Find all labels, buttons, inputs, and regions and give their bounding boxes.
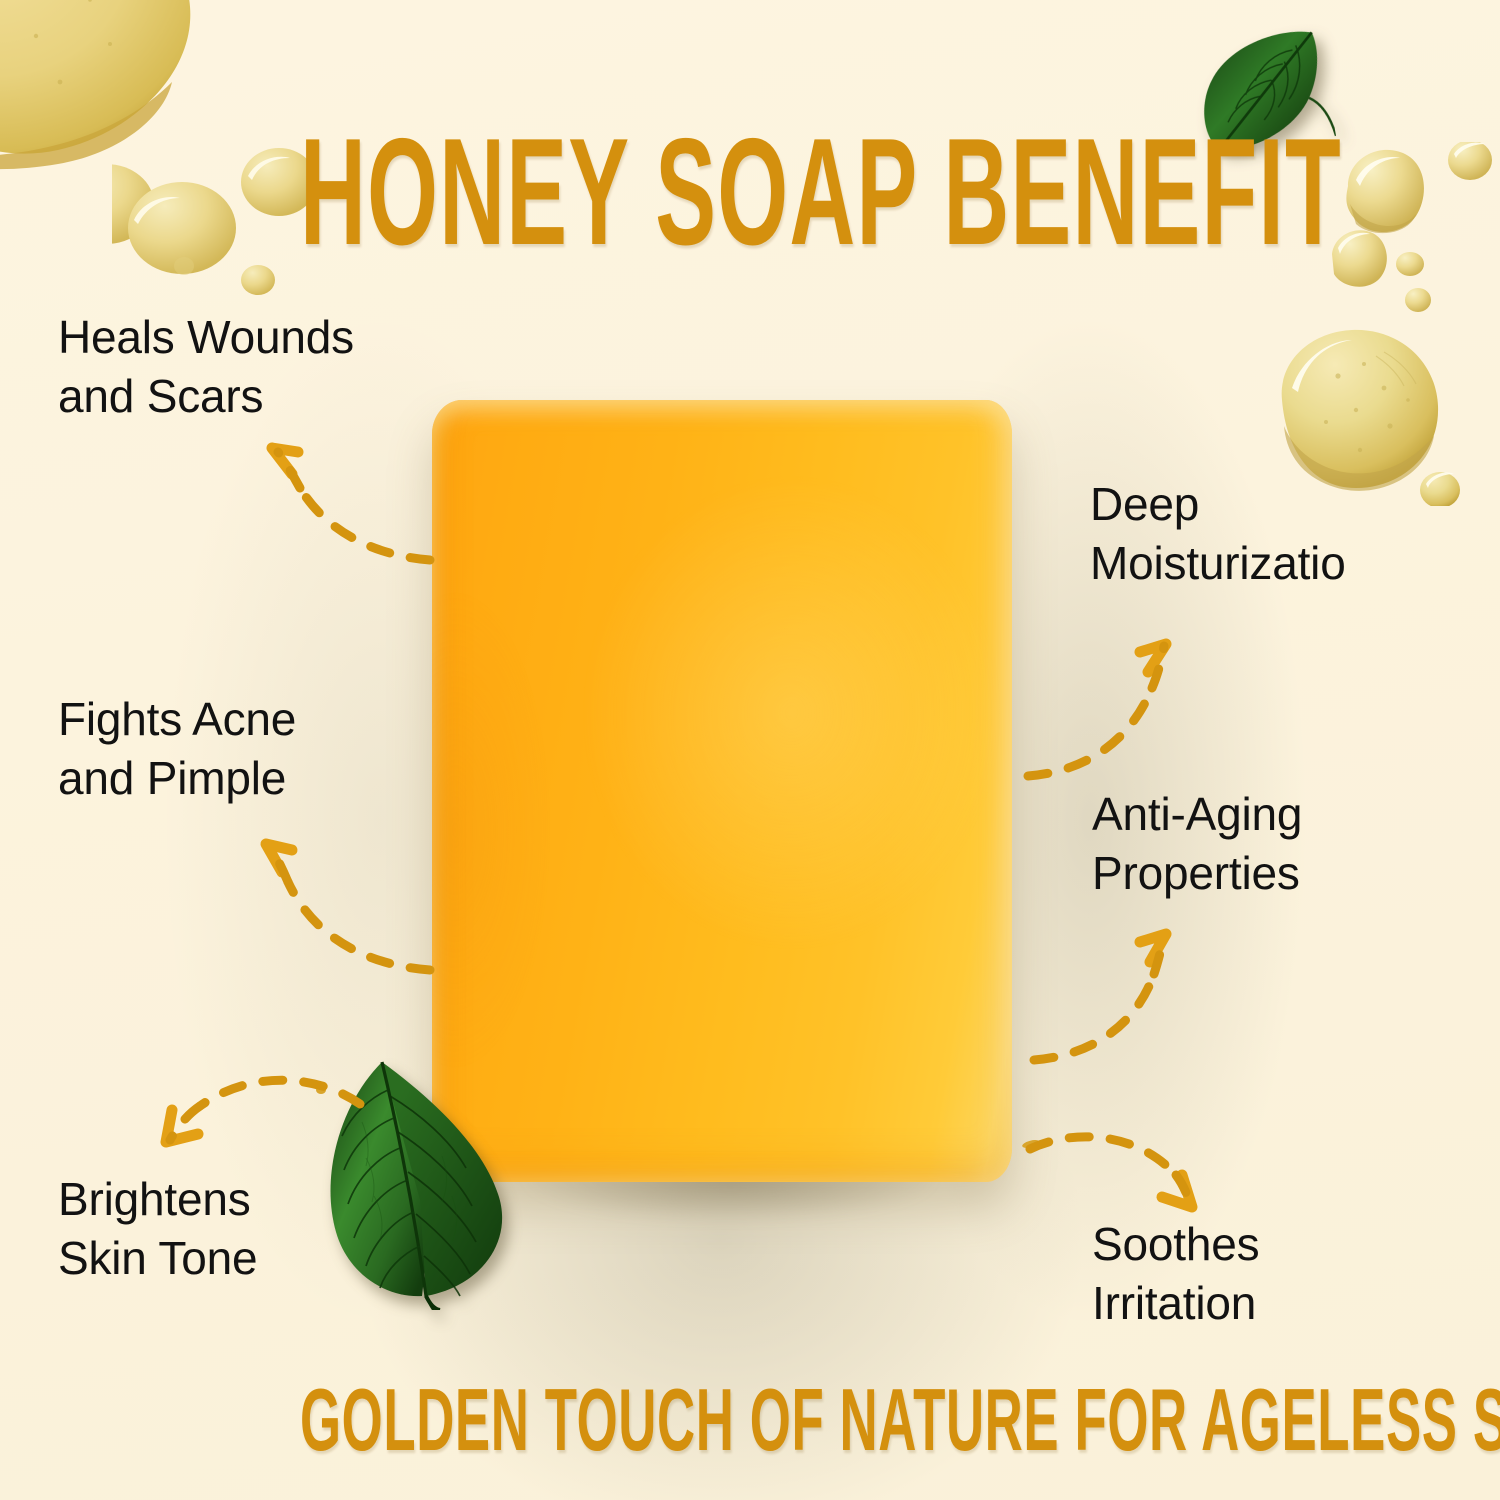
benefit-label-anti-aging-properties: Anti-Aging Properties (1092, 785, 1302, 903)
benefit-label-heals-wounds-and-scars: Heals Wounds and Scars (58, 308, 354, 426)
arrow-anti-aging-properties (1028, 920, 1198, 1070)
honey-droplets-top-right (1330, 142, 1500, 332)
benefit-label-fights-acne-and-pimple: Fights Acne and Pimple (58, 690, 296, 808)
benefit-label-brightens-skin-tone: Brightens Skin Tone (58, 1170, 257, 1288)
arrow-soothes-irritation (1026, 1125, 1226, 1245)
benefit-label-deep-moisturization: Deep Moisturizatio (1090, 475, 1346, 593)
poster-canvas: HONEY SOAP BENEFIT (0, 0, 1500, 1500)
arrow-fights-acne-and-pimple (250, 830, 440, 980)
arrow-deep-moisturization (1024, 628, 1194, 788)
arrow-heals-wounds-and-scars (258, 430, 438, 580)
page-title: HONEY SOAP BENEFIT (300, 118, 1200, 267)
page-tagline: GOLDEN TOUCH OF NATURE FOR AGELESS SKIN (300, 1376, 1200, 1464)
arrow-brightens-skin-tone (150, 1060, 370, 1180)
